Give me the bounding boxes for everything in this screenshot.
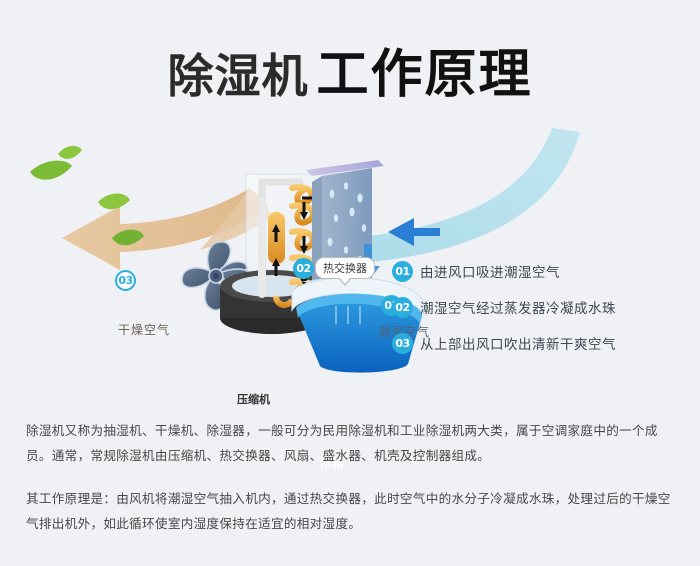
title-part-two: 工作原理 [316, 45, 532, 105]
paragraph-principle: 其工作原理是：由风机将潮湿空气抽入机内，通过热交换器，此时空气中的水分子冷凝成水… [26, 486, 681, 536]
step-badge-02: 02 [392, 297, 413, 318]
diagram-badge-02: 02 [293, 258, 314, 279]
step-badge-03: 03 [392, 333, 413, 354]
dry-air-arrow [62, 188, 274, 270]
list-item: 01 由进风口吸进潮湿空气 [392, 255, 692, 287]
list-item: 03 从上部出风口吹出清新干爽空气 [392, 327, 692, 359]
diagram-badge-03: 03 [115, 270, 136, 291]
title-part-one: 除湿机 [167, 49, 308, 103]
page-title: 除湿机工作原理 [0, 32, 700, 107]
infographic-page: 除湿机工作原理 [0, 0, 700, 566]
callout-heat-exchanger: 热交换器 [315, 257, 375, 279]
label-dry-air: 干燥空气 [118, 321, 170, 338]
label-compressor: 压缩机 [237, 391, 270, 407]
step-badge-01: 01 [392, 261, 413, 282]
humid-air-arc [370, 122, 600, 262]
body-copy: 除湿机又称为抽湿机、干燥机、除湿器，一般可分为民用除湿机和工业除湿机两大类，属于… [26, 418, 681, 554]
paragraph-definition: 除湿机又称为抽湿机、干燥机、除湿器，一般可分为民用除湿机和工业除湿机两大类，属于… [26, 418, 681, 468]
step-text-03: 从上部出风口吹出清新干爽空气 [420, 333, 616, 353]
list-item: 02 潮湿空气经过蒸发器冷凝成水珠 [392, 291, 692, 323]
step-text-01: 由进风口吸进潮湿空气 [420, 261, 560, 281]
step-text-02: 潮湿空气经过蒸发器冷凝成水珠 [420, 297, 616, 317]
steps-list: 01 由进风口吸进潮湿空气 02 潮湿空气经过蒸发器冷凝成水珠 03 从上部出风… [392, 255, 692, 363]
